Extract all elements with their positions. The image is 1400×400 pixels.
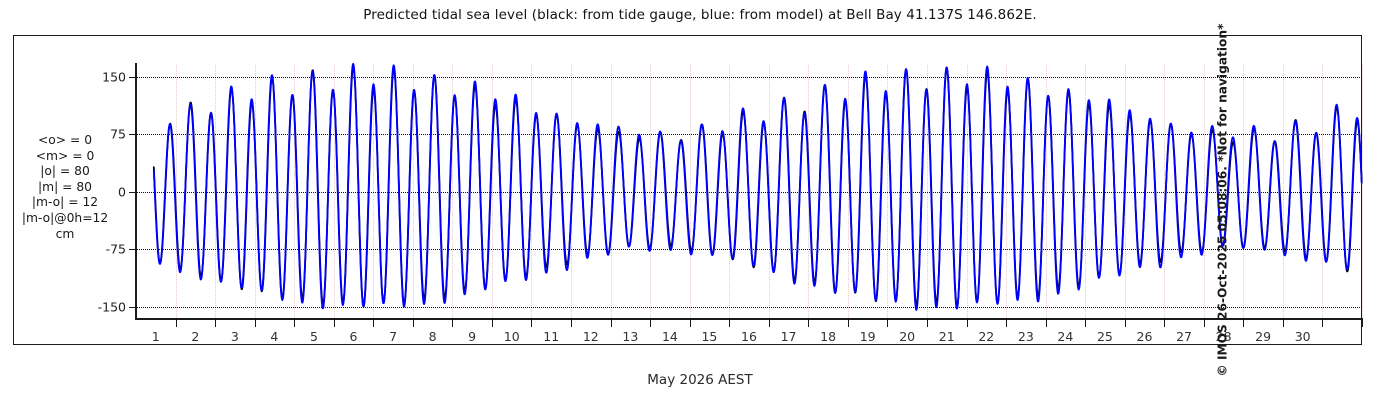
x-axis-tick — [1085, 318, 1086, 327]
x-axis-label: 17 — [781, 329, 797, 344]
x-axis-label: 7 — [389, 329, 397, 344]
x-axis-label: 14 — [662, 329, 678, 344]
x-axis-tick — [571, 318, 572, 327]
x-axis-tick — [808, 318, 809, 327]
x-axis-label: 1 — [152, 329, 160, 344]
y-axis-tick — [129, 192, 136, 193]
x-axis-label: 22 — [978, 329, 994, 344]
y-axis-label: -75 — [74, 242, 126, 257]
x-axis-tick — [255, 318, 256, 327]
x-axis-label: 20 — [899, 329, 915, 344]
x-axis-label: 12 — [583, 329, 599, 344]
statistics-line: <m> = 0 — [0, 149, 130, 165]
x-axis-label: 26 — [1137, 329, 1153, 344]
x-axis-tick — [1243, 318, 1244, 327]
x-axis-label: 2 — [191, 329, 199, 344]
x-axis-tick — [927, 318, 928, 327]
y-axis-label: 150 — [74, 69, 126, 84]
x-axis-tick — [848, 318, 849, 327]
x-axis-tick — [1046, 318, 1047, 327]
x-axis-tick — [531, 318, 532, 327]
x-axis-tick — [690, 318, 691, 327]
x-axis-title: May 2026 AEST — [0, 372, 1400, 388]
x-axis-label: 3 — [231, 329, 239, 344]
x-axis-tick — [650, 318, 651, 327]
x-axis-tick — [1164, 318, 1165, 327]
x-axis-spine — [135, 318, 1363, 320]
x-axis-label: 23 — [1018, 329, 1034, 344]
x-axis-label: 21 — [939, 329, 955, 344]
x-axis-label: 6 — [350, 329, 358, 344]
chart-title: Predicted tidal sea level (black: from t… — [0, 7, 1400, 23]
x-axis-tick — [1322, 318, 1323, 327]
x-axis-label: 30 — [1295, 329, 1311, 344]
x-axis-tick — [967, 318, 968, 327]
x-axis-tick — [1362, 318, 1363, 327]
x-axis-label: 9 — [468, 329, 476, 344]
plot-area: 150750-75-150 12345678910111213141516171… — [136, 65, 1362, 318]
x-axis-label: 4 — [270, 329, 278, 344]
x-axis-tick — [1006, 318, 1007, 327]
x-axis-label: 18 — [820, 329, 836, 344]
x-axis-label: 13 — [622, 329, 638, 344]
x-axis-label: 8 — [429, 329, 437, 344]
x-axis-tick — [413, 318, 414, 327]
x-axis-tick — [611, 318, 612, 327]
x-axis-tick — [215, 318, 216, 327]
imos-credit-text: © IMOS 26-Oct-2025 05:08:06. *Not for na… — [1216, 24, 1230, 377]
x-axis-label: 11 — [543, 329, 559, 344]
x-axis-tick — [1283, 318, 1284, 327]
x-axis-label: 5 — [310, 329, 318, 344]
x-axis-tick — [729, 318, 730, 327]
x-axis-label: 16 — [741, 329, 757, 344]
x-axis-label: 19 — [860, 329, 876, 344]
x-axis-label: 27 — [1176, 329, 1192, 344]
x-axis-label: 24 — [1057, 329, 1073, 344]
x-axis-label: 15 — [701, 329, 717, 344]
y-axis-tick — [129, 249, 136, 250]
x-axis-tick — [1204, 318, 1205, 327]
vertical-gridline — [1362, 65, 1363, 318]
x-axis-label: 10 — [504, 329, 520, 344]
x-axis-tick — [492, 318, 493, 327]
statistics-line: cm — [0, 227, 130, 243]
x-axis-tick — [887, 318, 888, 327]
x-axis-tick — [452, 318, 453, 327]
model-series-line — [154, 64, 1362, 310]
x-axis-label: 25 — [1097, 329, 1113, 344]
y-axis-tick — [129, 134, 136, 135]
y-axis-tick — [129, 307, 136, 308]
x-axis-tick — [176, 318, 177, 327]
x-axis-tick — [334, 318, 335, 327]
x-axis-label: 29 — [1255, 329, 1271, 344]
statistics-line: |m-o|@0h=12 — [0, 211, 130, 227]
y-axis-label: 75 — [74, 127, 126, 142]
x-axis-tick — [769, 318, 770, 327]
tide-series-plot — [136, 65, 1362, 318]
y-axis-label: 0 — [74, 184, 126, 199]
x-axis-tick — [1125, 318, 1126, 327]
y-axis-label: -150 — [74, 299, 126, 314]
tidal-chart-page: Predicted tidal sea level (black: from t… — [0, 0, 1400, 400]
x-axis-tick — [373, 318, 374, 327]
x-axis-tick — [294, 318, 295, 327]
y-axis-tick — [129, 77, 136, 78]
statistics-line: |o| = 80 — [0, 164, 130, 180]
